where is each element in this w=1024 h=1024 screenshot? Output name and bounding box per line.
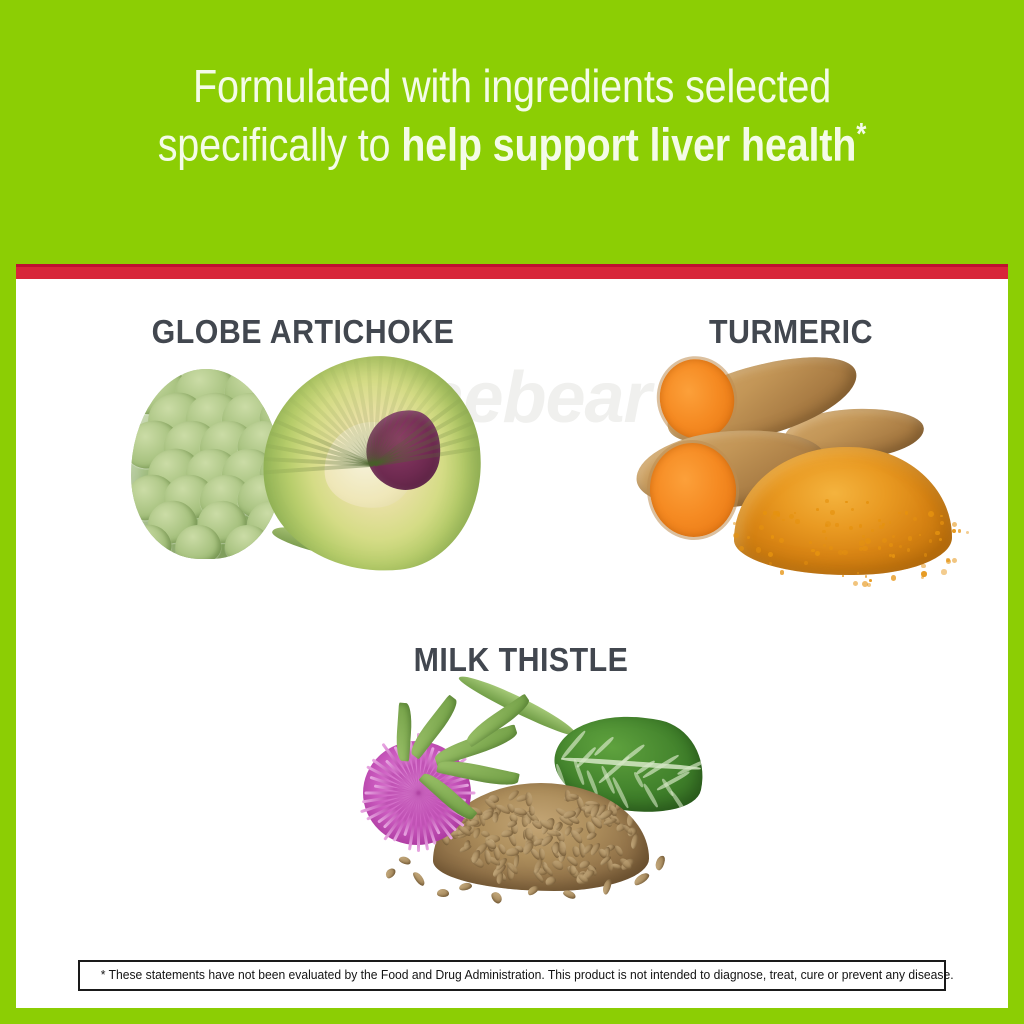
globe-artichoke-photo: [123, 351, 483, 586]
turmeric-powder-speck-icon: [842, 550, 847, 555]
leaf-vein-icon: [669, 790, 690, 818]
turmeric-powder-speck-icon: [851, 508, 854, 511]
artichoke-half-icon: [252, 346, 491, 583]
ingredient-label-milk-thistle: MILK THISTLE: [305, 641, 737, 679]
turmeric-powder-speck-icon: [869, 579, 872, 582]
turmeric-powder-speck-icon: [795, 519, 799, 523]
headline-line-2-strong: help support liver health: [401, 118, 856, 170]
turmeric-powder-speck-icon: [952, 558, 957, 563]
turmeric-powder-speck-icon: [907, 548, 910, 551]
turmeric-powder-speck-icon: [913, 517, 917, 521]
turmeric-powder-speck-icon: [809, 541, 812, 544]
turmeric-powder-speck-icon: [859, 547, 863, 551]
thistle-seed-icon: [458, 881, 473, 891]
turmeric-powder-speck-icon: [782, 519, 785, 522]
turmeric-powder-speck-icon: [941, 569, 946, 574]
turmeric-powder-speck-icon: [759, 525, 764, 530]
turmeric-powder-speck-icon: [862, 546, 867, 551]
leaf-vein-icon: [642, 783, 659, 808]
headline: Formulated with ingredients selected spe…: [0, 62, 1024, 169]
turmeric-powder-speck-icon: [946, 559, 951, 564]
turmeric-powder-speck-icon: [939, 538, 942, 541]
turmeric-powder-speck-icon: [892, 535, 895, 538]
headline-line-2-normal: specifically to: [158, 118, 402, 170]
content-panel: Baebear GLOBE ARTICHOKE TURMERIC: [16, 279, 1008, 1008]
thistle-seed-icon: [613, 844, 624, 857]
turmeric-powder-speck-icon: [889, 543, 893, 547]
ingredient-turmeric: TURMERIC: [576, 313, 1006, 601]
turmeric-powder-speck-icon: [928, 511, 934, 517]
ingredient-milk-thistle: MILK THISTLE: [286, 641, 756, 904]
thistle-seed-icon: [459, 843, 473, 854]
turmeric-powder-speck-icon: [929, 539, 933, 543]
turmeric-powder-speck-icon: [921, 576, 924, 579]
turmeric-photo: [616, 351, 966, 601]
turmeric-powder-speck-icon: [891, 575, 897, 581]
thistle-seed-icon: [525, 791, 533, 806]
turmeric-powder-speck-icon: [756, 547, 761, 552]
ingredient-label-globe-artichoke: GLOBE ARTICHOKE: [87, 313, 519, 351]
thistle-seed-icon: [490, 890, 504, 904]
headline-asterisk: *: [856, 118, 866, 151]
turmeric-powder-speck-icon: [822, 530, 826, 534]
turmeric-powder-speck-icon: [919, 534, 921, 536]
turmeric-powder-speck-icon: [835, 523, 838, 526]
headline-line-2: specifically to help support liver healt…: [72, 119, 953, 169]
turmeric-powder-speck-icon: [842, 575, 845, 578]
turmeric-powder-speck-icon: [908, 536, 912, 540]
turmeric-powder-speck-icon: [747, 536, 750, 539]
turmeric-powder-speck-icon: [780, 570, 785, 575]
turmeric-powder-speck-icon: [865, 575, 867, 577]
turmeric-powder-speck-icon: [952, 522, 957, 527]
turmeric-powder-speck-icon: [889, 521, 891, 523]
turmeric-powder-speck-icon: [882, 538, 887, 543]
thistle-seed-icon: [586, 831, 599, 842]
turmeric-powder-speck-icon: [862, 535, 865, 538]
leaf-vein-icon: [593, 736, 615, 757]
turmeric-powder-speck-icon: [816, 508, 819, 511]
ingredient-label-turmeric: TURMERIC: [593, 313, 989, 351]
turmeric-powder-speck-icon: [815, 551, 820, 556]
turmeric-powder-speck-icon: [867, 583, 871, 587]
milk-thistle-photo: [341, 679, 701, 904]
thistle-seed-icon: [654, 855, 667, 871]
turmeric-powder-speck-icon: [865, 538, 871, 544]
turmeric-powder-speck-icon: [733, 522, 736, 525]
turmeric-powder-speck-icon: [763, 511, 767, 515]
red-divider-bar: [16, 264, 1008, 279]
thistle-seed-icon: [384, 866, 398, 880]
turmeric-powder-speck-icon: [789, 514, 794, 519]
turmeric-powder-speck-icon: [935, 531, 939, 535]
turmeric-powder-speck-icon: [966, 531, 969, 534]
turmeric-powder-speck-icon: [779, 538, 784, 543]
fda-disclaimer-box: * These statements have not been evaluat…: [78, 960, 946, 991]
ingredient-globe-artichoke: GLOBE ARTICHOKE: [68, 313, 538, 586]
thistle-seed-icon: [411, 870, 426, 887]
turmeric-powder-speck-icon: [879, 525, 884, 530]
artichoke-whole-icon: [131, 369, 281, 559]
turmeric-powder-speck-icon: [825, 499, 829, 503]
turmeric-powder-speck-icon: [921, 564, 926, 569]
thistle-seed-icon: [562, 889, 577, 900]
fda-disclaimer-text: * These statements have not been evaluat…: [101, 968, 924, 982]
turmeric-powder-speck-icon: [958, 529, 962, 533]
thistle-seed-icon: [538, 847, 546, 860]
thistle-seed-icon: [626, 810, 636, 826]
headline-line-1: Formulated with ingredients selected: [72, 62, 953, 111]
liver-health-infographic: Formulated with ingredients selected spe…: [0, 0, 1024, 1024]
thistle-seed-icon: [437, 889, 449, 897]
turmeric-powder-speck-icon: [733, 533, 738, 538]
turmeric-powder-speck-icon: [825, 537, 828, 540]
turmeric-powder-speck-icon: [905, 511, 908, 514]
thistle-seed-icon: [398, 855, 412, 865]
turmeric-powder-speck-icon: [952, 529, 956, 533]
turmeric-powder-speck-icon: [829, 546, 833, 550]
turmeric-powder-speck-icon: [830, 510, 835, 515]
leaf-vein-icon: [561, 730, 587, 760]
turmeric-powder-speck-icon: [768, 552, 773, 557]
turmeric-powder-speck-icon: [878, 546, 882, 550]
thistle-seed-icon: [491, 811, 498, 823]
turmeric-powder-speck-icon: [853, 581, 859, 587]
